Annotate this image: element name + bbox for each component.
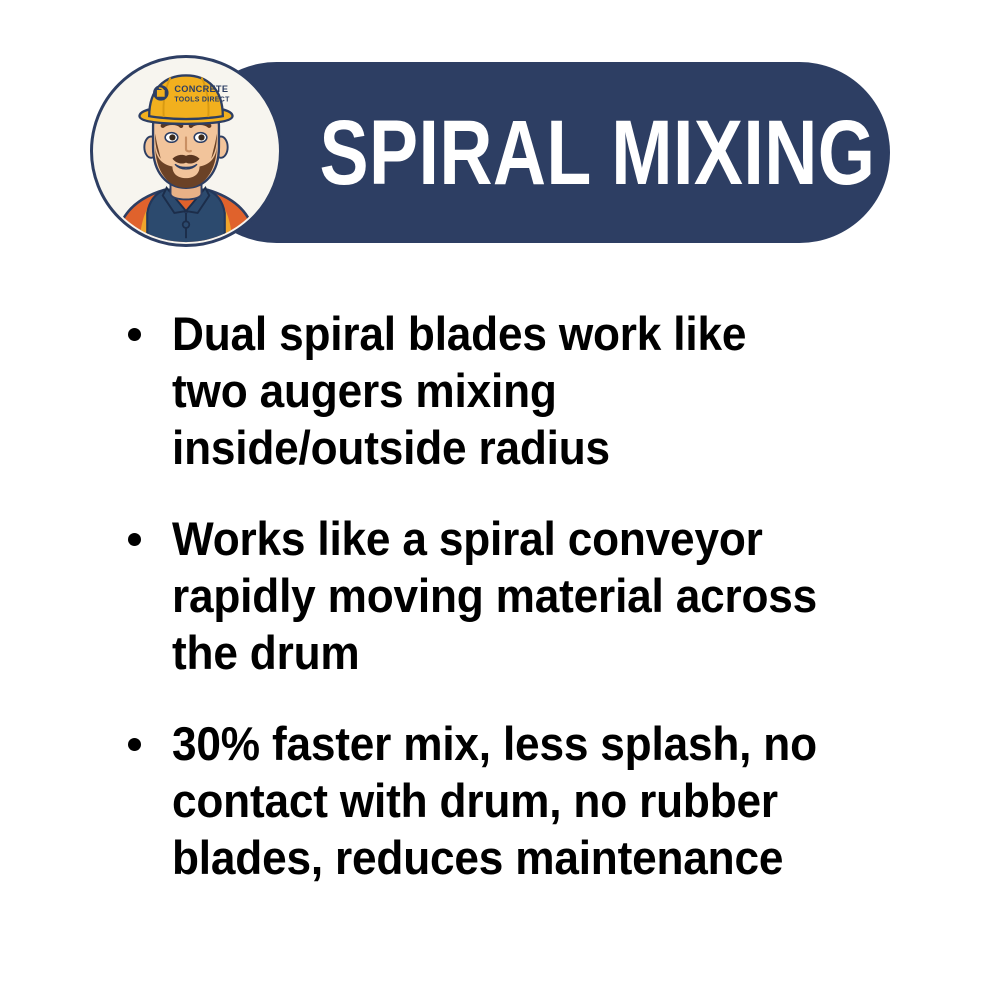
header-pill-banner: SPIRAL MIXING (186, 62, 890, 243)
avatar: CONCRETE TOOLS DIRECT (90, 55, 282, 247)
feature-bullet-list: Dual spiral blades work like two augers … (128, 305, 873, 886)
bullet-dot-icon (128, 738, 141, 751)
list-item-text: 30% faster mix, less splash, no contact … (172, 715, 831, 886)
list-item: Dual spiral blades work like two augers … (128, 305, 873, 476)
list-item-text: Dual spiral blades work like two augers … (172, 305, 831, 476)
svg-text:TOOLS DIRECT: TOOLS DIRECT (174, 97, 230, 104)
list-item-text: Works like a spiral conveyor rapidly mov… (172, 510, 831, 681)
card-header: SPIRAL MIXING (0, 0, 1000, 270)
list-item: 30% faster mix, less splash, no contact … (128, 715, 873, 886)
list-item: Works like a spiral conveyor rapidly mov… (128, 510, 873, 681)
bullet-dot-icon (128, 533, 141, 546)
svg-text:CONCRETE: CONCRETE (174, 84, 228, 94)
page-title: SPIRAL MIXING (319, 107, 875, 199)
helmet-emblem-icon (153, 85, 169, 101)
construction-worker-illustration: CONCRETE TOOLS DIRECT (93, 58, 279, 244)
spiral-mixing-card: SPIRAL MIXING (0, 0, 1000, 1000)
bullet-dot-icon (128, 328, 141, 341)
